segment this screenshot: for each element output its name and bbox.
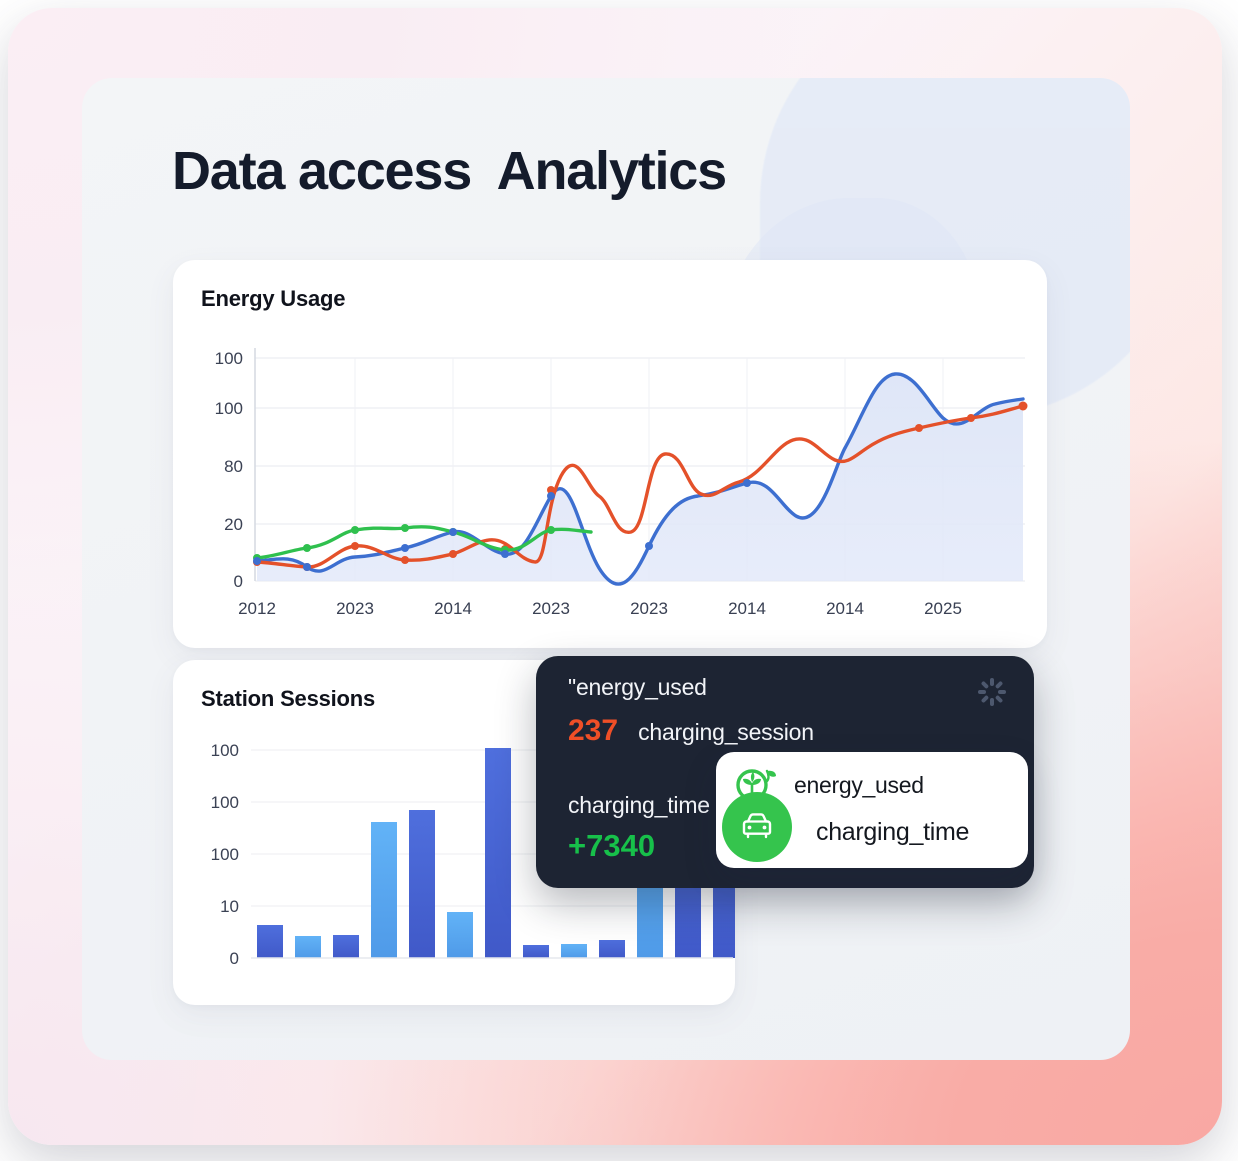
bar-y-tick-2: 100: [211, 845, 239, 864]
y-tick-3: 20: [224, 515, 243, 534]
bar-item: [485, 748, 511, 958]
x-tick-5: 2014: [728, 599, 766, 618]
bar-item: [561, 944, 587, 958]
x-tick-2: 2014: [434, 599, 472, 618]
bar-y-tick-3: 10: [220, 897, 239, 916]
x-tick-6: 2014: [826, 599, 864, 618]
car-icon: [722, 792, 792, 862]
tooltip-primary-row: 237 charging_session: [568, 714, 814, 748]
station-sessions-title: Station Sessions: [201, 686, 375, 712]
x-tick-1: 2023: [336, 599, 374, 618]
bar-y-tick-0: 100: [211, 741, 239, 760]
energy-usage-card: Energy Usage: [173, 260, 1047, 648]
legend-label-charging-time: charging_time: [816, 818, 969, 847]
y-tick-2: 80: [224, 457, 243, 476]
bar-item: [523, 945, 549, 958]
energy-usage-title: Energy Usage: [201, 286, 345, 312]
bar-item: [295, 936, 321, 958]
bar-y-tick-1: 100: [211, 793, 239, 812]
energy-usage-chart[interactable]: 100 100 80 20 0: [195, 336, 1025, 626]
tooltip-key-top: "energy_used: [568, 674, 707, 701]
y-tick-1: 100: [215, 399, 243, 418]
tooltip-value-orange: 237: [568, 714, 618, 748]
x-tick-3: 2023: [532, 599, 570, 618]
tooltip-value-green: +7340: [568, 828, 655, 864]
bar-item: [599, 940, 625, 958]
loading-spinner-icon[interactable]: [978, 678, 1006, 706]
y-tick-0: 100: [215, 349, 243, 368]
bar-item: [371, 822, 397, 958]
line-chart-svg: 100 100 80 20 0: [195, 336, 1025, 626]
x-tick-4: 2023: [630, 599, 668, 618]
x-tick-0: 2012: [238, 599, 276, 618]
tooltip-key-bottom: charging_time: [568, 792, 710, 819]
page-title: Data access Analytics: [172, 140, 726, 202]
bar-item: [409, 810, 435, 958]
dashboard-panel: Data access Analytics Energy Usage: [82, 78, 1130, 1060]
x-tick-labels: 2012 2023 2014 2023 2023 2014 2014 2025: [238, 599, 962, 618]
blue-series-area: [257, 374, 1023, 584]
y-tick-4: 0: [234, 572, 243, 591]
tooltip-label-charging-session: charging_session: [638, 719, 814, 746]
bar-item: [257, 925, 283, 958]
bar-y-tick-labels: 100 100 100 10 0: [211, 741, 239, 968]
gradient-backdrop: Data access Analytics Energy Usage: [8, 8, 1222, 1145]
legend-label-energy-used: energy_used: [794, 772, 924, 799]
bar-y-tick-4: 0: [230, 949, 239, 968]
bar-item: [447, 912, 473, 958]
x-tick-7: 2025: [924, 599, 962, 618]
bar-item: [333, 935, 359, 958]
y-tick-labels: 100 100 80 20 0: [215, 349, 243, 591]
